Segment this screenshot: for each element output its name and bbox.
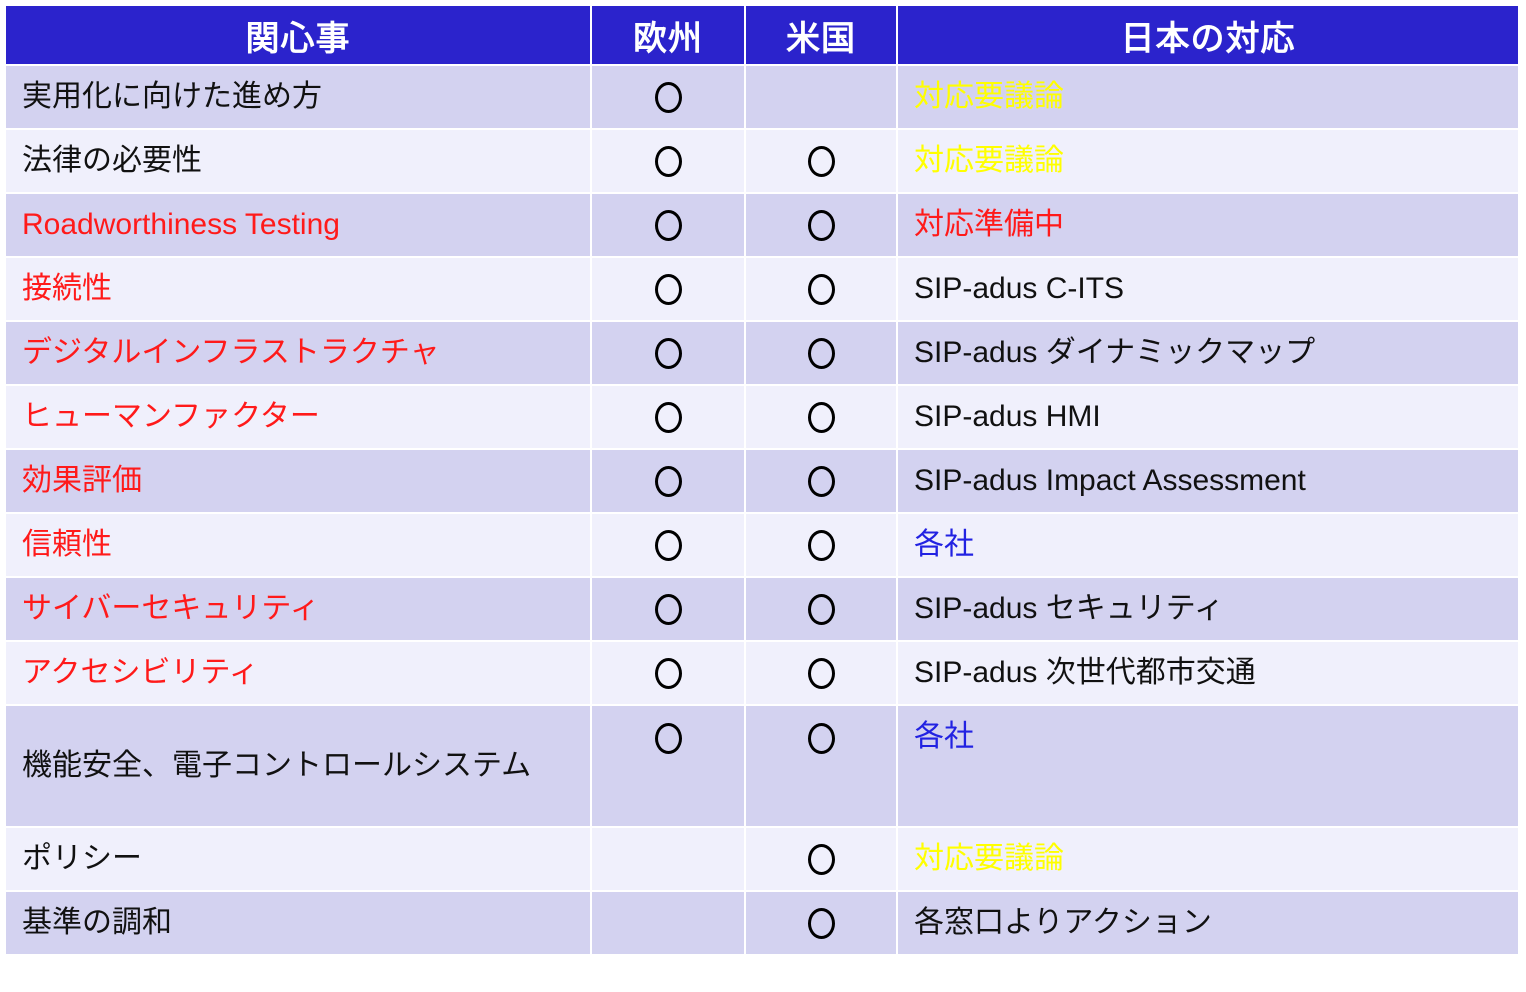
cell-mark-usa (746, 322, 896, 384)
cell-mark-europe (592, 642, 744, 704)
table-row: ヒューマンファクターSIP-adus HMI (6, 386, 1518, 448)
cell-response: SIP-adus 次世代都市交通 (898, 642, 1518, 704)
circle-mark-icon (655, 402, 682, 433)
cell-response: SIP-adus セキュリティ (898, 578, 1518, 640)
table-row: 信頼性各社 (6, 514, 1518, 576)
cell-mark-europe (592, 706, 744, 826)
cell-topic: 基準の調和 (6, 892, 590, 954)
cell-mark-europe (592, 578, 744, 640)
cell-mark-usa (746, 892, 896, 954)
header-row: 関心事 欧州 米国 日本の対応 (6, 6, 1518, 64)
cell-mark-usa (746, 578, 896, 640)
circle-mark-icon (808, 530, 835, 561)
cell-response: 各社 (898, 514, 1518, 576)
circle-mark-icon (655, 338, 682, 369)
cell-topic: デジタルインフラストラクチャ (6, 322, 590, 384)
circle-mark-icon (808, 844, 835, 875)
column-header-response: 日本の対応 (898, 6, 1518, 64)
cell-topic: 機能安全、電子コントロールシステム (6, 706, 590, 826)
circle-mark-icon (655, 658, 682, 689)
cell-mark-europe-empty (592, 828, 744, 890)
table-row: 基準の調和各窓口よりアクション (6, 892, 1518, 954)
cell-topic: ヒューマンファクター (6, 386, 590, 448)
cell-mark-usa (746, 258, 896, 320)
cell-response: 対応要議論 (898, 66, 1518, 128)
cell-mark-europe (592, 450, 744, 512)
cell-mark-europe (592, 194, 744, 256)
cell-mark-usa (746, 194, 896, 256)
cell-mark-europe (592, 386, 744, 448)
table-row: サイバーセキュリティSIP-adus セキュリティ (6, 578, 1518, 640)
table-row: 接続性SIP-adus C-ITS (6, 258, 1518, 320)
table-header: 関心事 欧州 米国 日本の対応 (6, 6, 1518, 64)
table-row: 法律の必要性対応要議論 (6, 130, 1518, 192)
circle-mark-icon (655, 723, 682, 754)
cell-mark-usa (746, 386, 896, 448)
circle-mark-icon (808, 338, 835, 369)
circle-mark-icon (655, 210, 682, 241)
cell-response: 対応要議論 (898, 828, 1518, 890)
table-row: 効果評価SIP-adus Impact Assessment (6, 450, 1518, 512)
circle-mark-icon (655, 274, 682, 305)
cell-response: SIP-adus Impact Assessment (898, 450, 1518, 512)
circle-mark-icon (808, 210, 835, 241)
circle-mark-icon (808, 466, 835, 497)
cell-response: SIP-adus ダイナミックマップ (898, 322, 1518, 384)
cell-mark-europe (592, 66, 744, 128)
table-row: デジタルインフラストラクチャSIP-adus ダイナミックマップ (6, 322, 1518, 384)
cell-mark-usa (746, 130, 896, 192)
cell-topic: ポリシー (6, 828, 590, 890)
table-row: 実用化に向けた進め方対応要議論 (6, 66, 1518, 128)
cell-mark-usa (746, 514, 896, 576)
circle-mark-icon (655, 594, 682, 625)
cell-mark-europe-empty (592, 892, 744, 954)
column-header-topic: 関心事 (6, 6, 590, 64)
table-row: ポリシー対応要議論 (6, 828, 1518, 890)
table-row: アクセシビリティSIP-adus 次世代都市交通 (6, 642, 1518, 704)
circle-mark-icon (808, 146, 835, 177)
cell-topic: 実用化に向けた進め方 (6, 66, 590, 128)
circle-mark-icon (808, 723, 835, 754)
comparison-table-container: 関心事 欧州 米国 日本の対応 実用化に向けた進め方対応要議論法律の必要性対応要… (6, 6, 1518, 954)
cell-mark-usa-empty (746, 66, 896, 128)
cell-topic: 法律の必要性 (6, 130, 590, 192)
cell-mark-usa (746, 828, 896, 890)
cell-response: SIP-adus C-ITS (898, 258, 1518, 320)
circle-mark-icon (655, 466, 682, 497)
cell-mark-europe (592, 130, 744, 192)
cell-topic: 接続性 (6, 258, 590, 320)
cell-mark-europe (592, 322, 744, 384)
cell-response: 対応要議論 (898, 130, 1518, 192)
comparison-table: 関心事 欧州 米国 日本の対応 実用化に向けた進め方対応要議論法律の必要性対応要… (4, 4, 1520, 956)
circle-mark-icon (655, 82, 682, 113)
circle-mark-icon (655, 530, 682, 561)
table-row: Roadworthiness Testing対応準備中 (6, 194, 1518, 256)
cell-topic: 信頼性 (6, 514, 590, 576)
cell-mark-europe (592, 258, 744, 320)
circle-mark-icon (808, 908, 835, 939)
table-row: 機能安全、電子コントロールシステム各社 (6, 706, 1518, 826)
circle-mark-icon (808, 594, 835, 625)
cell-mark-usa (746, 706, 896, 826)
table-body: 実用化に向けた進め方対応要議論法律の必要性対応要議論Roadworthiness… (6, 66, 1518, 954)
cell-response: 各社 (898, 706, 1518, 826)
circle-mark-icon (808, 402, 835, 433)
cell-topic: 効果評価 (6, 450, 590, 512)
cell-response: 対応準備中 (898, 194, 1518, 256)
cell-response: 各窓口よりアクション (898, 892, 1518, 954)
circle-mark-icon (808, 274, 835, 305)
cell-mark-europe (592, 514, 744, 576)
cell-response: SIP-adus HMI (898, 386, 1518, 448)
cell-topic: サイバーセキュリティ (6, 578, 590, 640)
cell-topic: アクセシビリティ (6, 642, 590, 704)
cell-mark-usa (746, 642, 896, 704)
circle-mark-icon (655, 146, 682, 177)
circle-mark-icon (808, 658, 835, 689)
column-header-usa: 米国 (746, 6, 896, 64)
cell-topic: Roadworthiness Testing (6, 194, 590, 256)
column-header-europe: 欧州 (592, 6, 744, 64)
cell-mark-usa (746, 450, 896, 512)
